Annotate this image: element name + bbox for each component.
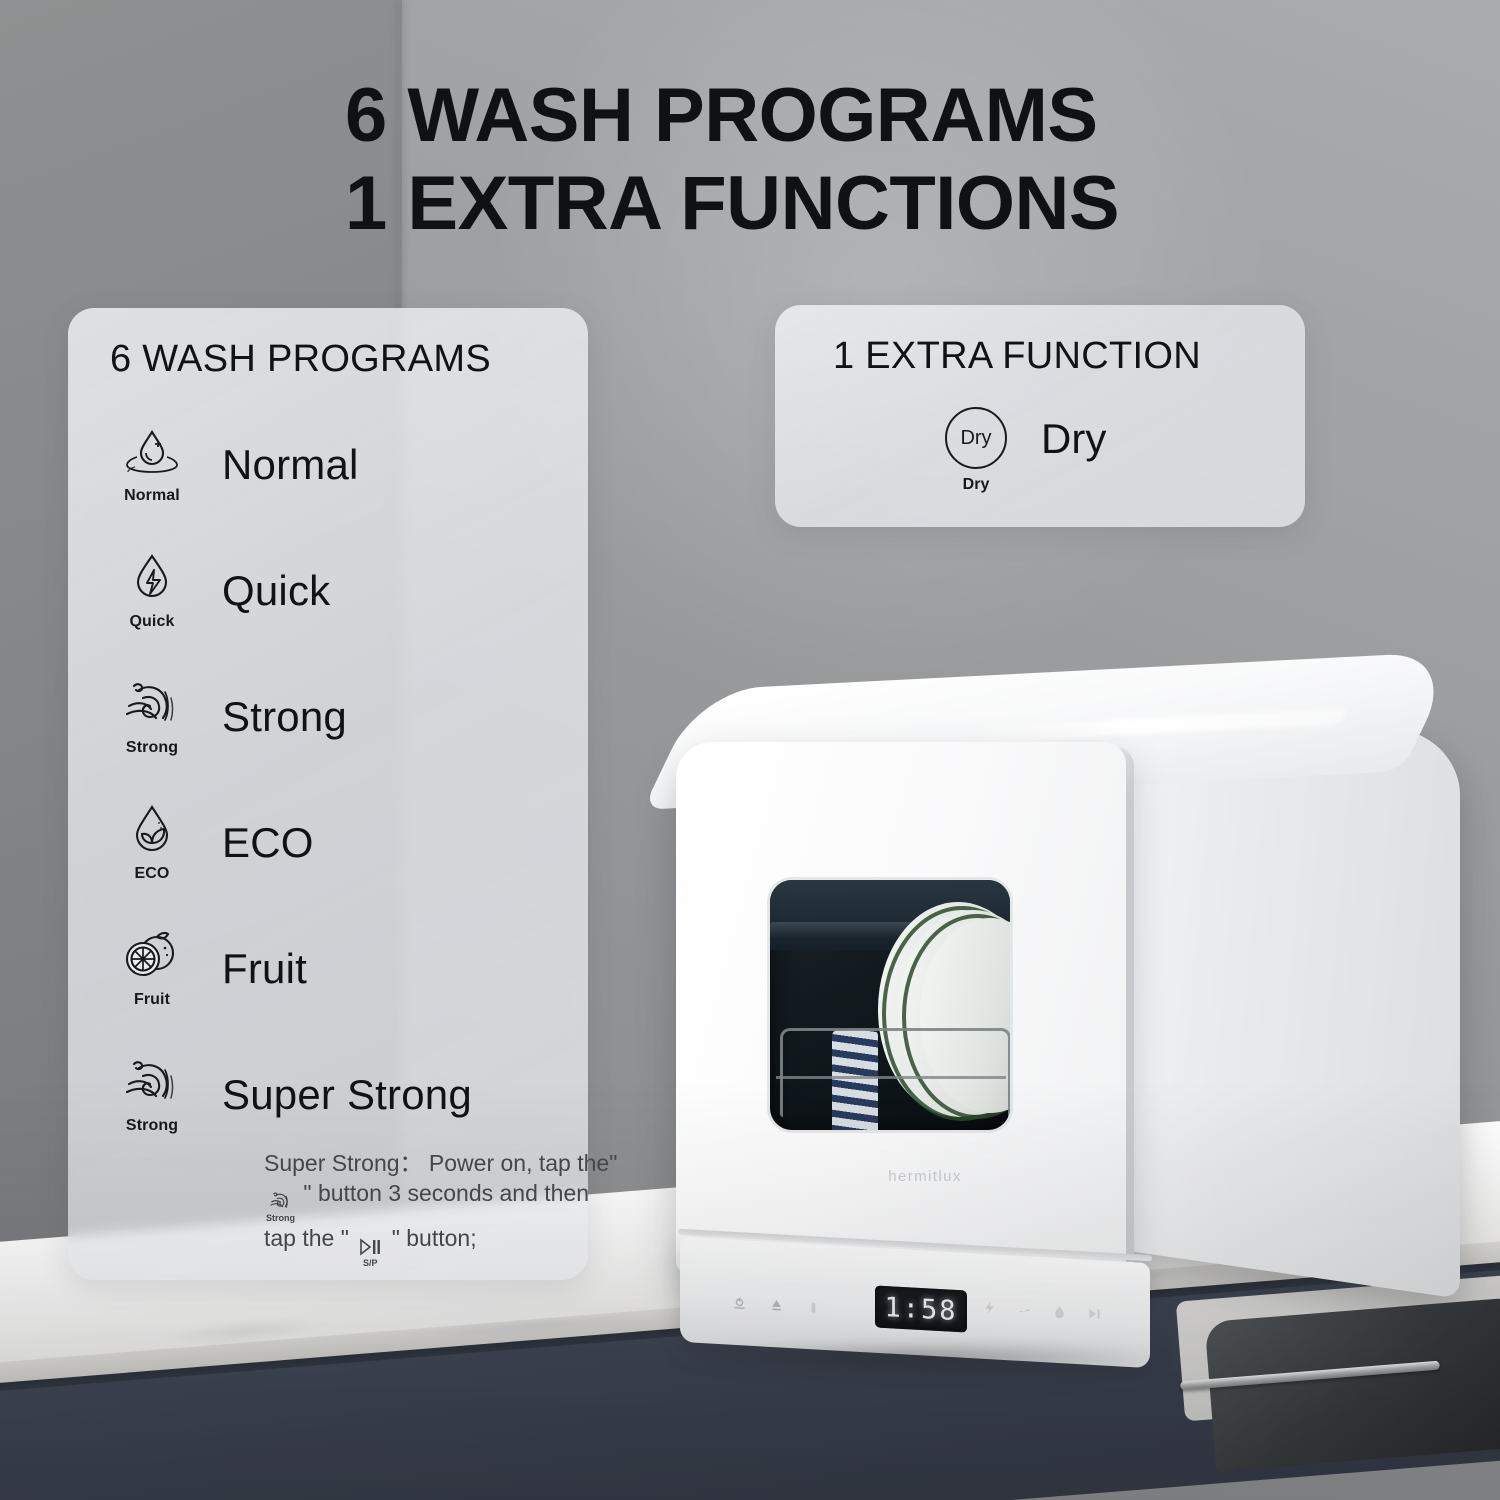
program-icon-wrap: ECO: [108, 796, 196, 883]
start-pause-icon[interactable]: [1087, 1304, 1102, 1322]
dishwasher-viewing-window: [770, 880, 1010, 1130]
wash-programs-title: 6 WASH PROGRAMS: [110, 338, 491, 381]
program-icon-wrap: Quick: [108, 544, 196, 631]
power-icon[interactable]: [732, 1294, 747, 1312]
program-icon-caption: Fruit: [134, 991, 170, 1009]
quick-program-icon[interactable]: [982, 1299, 997, 1317]
citrus-fruit-icon: [121, 926, 183, 986]
program-icon-caption: Quick: [130, 613, 175, 631]
headline-line-2: 1 EXTRA FUNCTIONS: [345, 160, 1345, 248]
dry-circle-icon: Dry: [945, 407, 1007, 469]
strong-program-icon[interactable]: [1017, 1301, 1032, 1319]
program-icon-caption: ECO: [135, 865, 170, 883]
water-drop-sparkle-icon: [121, 422, 183, 482]
program-row-strong[interactable]: Strong Strong: [108, 670, 558, 796]
program-icon-caption: Strong: [126, 1117, 178, 1135]
footnote-strong-caption: Strong: [266, 1214, 295, 1223]
headline-line-1: 6 WASH PROGRAMS: [345, 72, 1345, 160]
extra-function-card: 1 EXTRA FUNCTION Dry Dry Dry: [775, 305, 1305, 527]
start-pause-icon: [357, 1236, 383, 1258]
program-icon-1[interactable]: [806, 1298, 821, 1316]
extra-function-title: 1 EXTRA FUNCTION: [833, 335, 1201, 378]
program-name: Quick: [222, 544, 330, 612]
extra-function-row[interactable]: Dry Dry Dry: [945, 407, 1106, 494]
led-time-display: 1:58: [875, 1285, 967, 1332]
page-headline: 6 WASH PROGRAMS 1 EXTRA FUNCTIONS: [345, 72, 1345, 248]
program-icon-caption: Strong: [126, 739, 178, 757]
program-row-normal[interactable]: Normal Normal: [108, 418, 558, 544]
countertop-dishwasher: hermitlux 1:58: [660, 690, 1460, 1370]
wave-splash-icon: [268, 1189, 294, 1213]
wire-dish-rack-lower-bar: [776, 1076, 1006, 1079]
program-icon-wrap: Strong: [108, 670, 196, 757]
super-strong-footnote: Super Strong： Power on, tap the" Strong …: [264, 1148, 624, 1268]
program-name: Super Strong: [222, 1048, 472, 1116]
program-name: Strong: [222, 670, 347, 738]
program-name: Normal: [222, 418, 359, 486]
wash-programs-card: 6 WASH PROGRAMS Normal Normal: [68, 308, 588, 1280]
display-value: 1:58: [884, 1291, 957, 1326]
extra-icon-caption: Dry: [963, 476, 990, 494]
footnote-part-3: " button;: [392, 1225, 477, 1251]
brand-logo: hermitlux: [850, 1168, 1000, 1185]
control-panel-left-icons[interactable]: [732, 1283, 852, 1330]
water-drop-lightning-icon: [121, 548, 183, 608]
water-drop-leaf-icon: [121, 800, 183, 860]
infographic-stage: hermitlux 1:58 6 WASH PROGRAMS: [0, 0, 1500, 1500]
dishwasher-contact-shadow: [670, 1342, 1170, 1376]
dry-icon-label: Dry: [960, 427, 991, 450]
program-icon-wrap: Normal: [108, 418, 196, 505]
program-icon-wrap: Strong: [108, 1048, 196, 1135]
program-row-fruit[interactable]: Fruit Fruit: [108, 922, 558, 1048]
footnote-strong-icon-wrap: Strong: [266, 1189, 295, 1223]
wave-splash-icon: [121, 1052, 183, 1112]
program-name: Fruit: [222, 922, 307, 990]
program-icon-wrap: Fruit: [108, 922, 196, 1009]
spray-arm-icon[interactable]: [769, 1296, 784, 1314]
program-row-quick[interactable]: Quick Quick: [108, 544, 558, 670]
extra-icon-wrap: Dry Dry: [945, 407, 1007, 494]
wave-splash-icon: [121, 674, 183, 734]
extra-function-name: Dry: [1041, 407, 1106, 463]
footnote-startpause-caption: S/P: [363, 1259, 378, 1268]
program-row-eco[interactable]: ECO ECO: [108, 796, 558, 922]
footnote-part-1: Super Strong： Power on, tap the": [264, 1150, 617, 1176]
eco-program-icon[interactable]: [1052, 1303, 1067, 1321]
program-name: ECO: [222, 796, 314, 864]
wire-dish-rack: [780, 1028, 1010, 1117]
wash-programs-list: Normal Normal Quick Quick: [108, 418, 558, 1174]
program-icon-caption: Normal: [124, 487, 180, 505]
footnote-startpause-icon-wrap: S/P: [357, 1236, 383, 1268]
